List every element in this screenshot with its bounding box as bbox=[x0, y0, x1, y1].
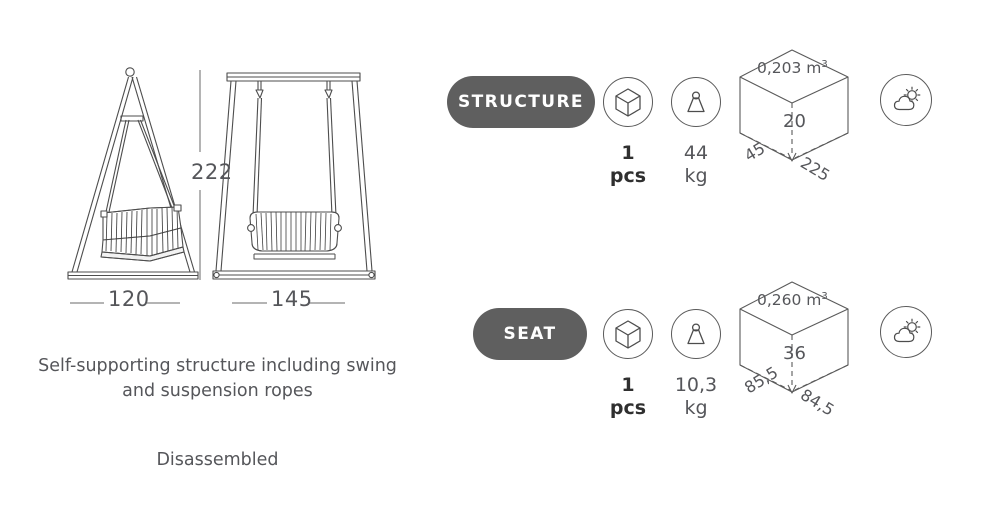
package-volume: 0,203 m3 bbox=[757, 59, 828, 77]
quantity-value: 1 pcs bbox=[596, 374, 660, 420]
product-spec-sheet: 222 120 145 Self-supporting structure in… bbox=[0, 0, 1000, 517]
cube-icon bbox=[603, 309, 653, 359]
category-pill-label: STRUCTURE bbox=[458, 92, 584, 112]
dimension-height-222: 222 bbox=[191, 160, 233, 184]
cube-icon bbox=[603, 77, 653, 127]
package-height: 20 bbox=[783, 111, 806, 132]
technical-drawings: 222 120 145 Self-supporting structure in… bbox=[0, 0, 430, 517]
sun-cloud-icon bbox=[880, 306, 932, 358]
package-volume-exponent: 3 bbox=[821, 291, 827, 302]
dimension-width-145: 145 bbox=[271, 287, 313, 311]
weight-value: 44 kg bbox=[664, 142, 728, 188]
weight-unit: kg bbox=[664, 165, 728, 188]
weight-value: 10,3 kg bbox=[664, 374, 728, 420]
category-pill-structure: STRUCTURE bbox=[447, 76, 595, 128]
package-volume-exponent: 3 bbox=[821, 59, 827, 70]
caption-assembly-state: Disassembled bbox=[30, 448, 405, 473]
weight-number: 44 bbox=[664, 142, 728, 165]
caption-structure-description: Self-supporting structure including swin… bbox=[30, 354, 405, 404]
dimension-width-120: 120 bbox=[108, 287, 150, 311]
weight-number: 10,3 bbox=[664, 374, 728, 397]
weight-unit: kg bbox=[664, 397, 728, 420]
package-box-diagram: 0,260 m3 36 85,5 84,5 bbox=[735, 277, 870, 422]
quantity-value: 1 pcs bbox=[596, 142, 660, 188]
category-pill-seat: SEAT bbox=[473, 308, 587, 360]
category-pill-label: SEAT bbox=[504, 324, 557, 344]
spec-row-seat: SEAT 1 pcs 10,3 kg bbox=[440, 280, 1000, 460]
package-volume-value: 0,203 m bbox=[757, 59, 821, 77]
quantity-number: 1 bbox=[596, 142, 660, 165]
quantity-number: 1 bbox=[596, 374, 660, 397]
quantity-unit: pcs bbox=[596, 165, 660, 188]
package-box-diagram: 0,203 m3 20 45 225 bbox=[735, 45, 870, 190]
spec-row-structure: STRUCTURE 1 pcs 44 kg bbox=[440, 48, 1000, 228]
weight-icon bbox=[671, 309, 721, 359]
package-volume-value: 0,260 m bbox=[757, 291, 821, 309]
package-height: 36 bbox=[783, 343, 806, 364]
weight-icon bbox=[671, 77, 721, 127]
sun-cloud-icon bbox=[880, 74, 932, 126]
package-volume: 0,260 m3 bbox=[757, 291, 828, 309]
quantity-unit: pcs bbox=[596, 397, 660, 420]
